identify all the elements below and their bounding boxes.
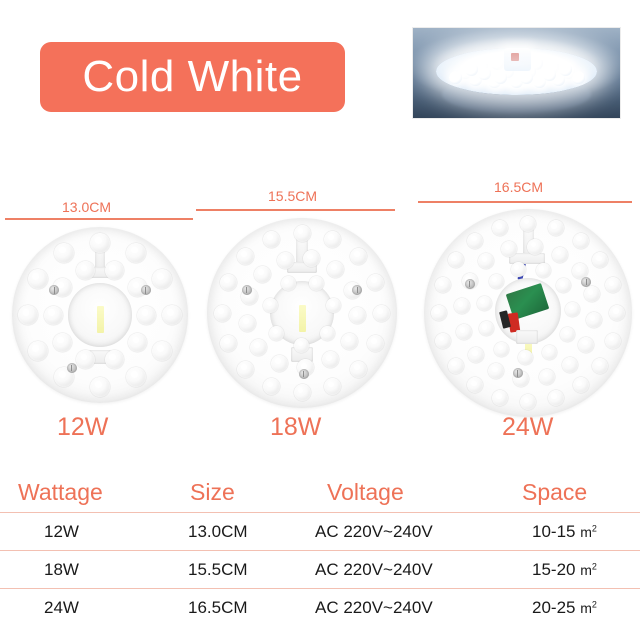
led-lens <box>53 333 72 352</box>
led-lens <box>128 333 147 352</box>
led-lens <box>250 339 267 356</box>
dimension-label-24w: 16.5CM <box>494 180 543 194</box>
led-lens <box>435 333 451 349</box>
led-lens <box>592 252 608 268</box>
led-lens <box>18 305 38 325</box>
led-lens <box>431 305 447 321</box>
led-lens <box>281 276 296 291</box>
header-wattage: Wattage <box>0 481 180 504</box>
led-lens <box>254 266 271 283</box>
led-lens <box>479 321 494 336</box>
led-lens <box>269 326 284 341</box>
table-header-row: Wattage Size Voltage Space <box>0 472 640 512</box>
cell-space-unit: m2 <box>580 524 597 540</box>
mounting-screw <box>465 279 475 289</box>
led-lens <box>584 286 600 302</box>
table-body: 12W 13.0CM AC 220V~240V 10-15 m2 18W 15.… <box>0 512 640 626</box>
led-lens <box>573 233 589 249</box>
led-lens <box>539 369 555 385</box>
panel-lower-tab-24w <box>516 330 539 345</box>
led-lens <box>373 305 390 322</box>
specification-table: Wattage Size Voltage Space 12W 13.0CM AC… <box>0 472 640 626</box>
led-panel-18w <box>207 218 397 408</box>
phosphor-strip-12w <box>97 306 103 332</box>
cell-space-value: 10-15 <box>532 522 575 541</box>
led-lens <box>367 335 384 352</box>
led-lens <box>263 231 280 248</box>
header-size: Size <box>180 481 315 504</box>
cell-space-unit: m2 <box>580 562 597 578</box>
led-lens <box>214 305 231 322</box>
led-lens <box>492 390 508 406</box>
led-lens <box>520 216 536 232</box>
led-lens <box>54 243 74 263</box>
cell-space: 20-25 m2 <box>500 598 640 618</box>
led-lens <box>239 315 256 332</box>
led-lens <box>320 326 335 341</box>
led-lens <box>536 263 551 278</box>
led-lens <box>324 231 341 248</box>
led-lens <box>126 367 146 387</box>
header-voltage: Voltage <box>315 481 500 504</box>
led-lens <box>467 233 483 249</box>
led-lens <box>578 337 594 353</box>
cell-wattage: 24W <box>0 598 180 618</box>
dimension-label-12w: 13.0CM <box>62 200 111 214</box>
led-lens <box>548 220 564 236</box>
color-temperature-badge: Cold White <box>40 42 345 112</box>
mounting-screw <box>299 369 309 379</box>
led-lens <box>28 269 48 289</box>
led-lens <box>477 296 492 311</box>
cell-voltage: AC 220V~240V <box>315 522 500 542</box>
led-lens <box>573 377 589 393</box>
led-lens <box>492 220 508 236</box>
cell-wattage: 12W <box>0 522 180 542</box>
dimension-line-24w <box>418 201 632 203</box>
led-lens <box>560 327 575 342</box>
cell-size: 15.5CM <box>180 560 315 580</box>
led-lens <box>488 363 504 379</box>
color-temperature-label: Cold White <box>82 55 302 99</box>
led-lens <box>478 253 494 269</box>
mounting-screw <box>513 368 523 378</box>
led-lens <box>520 394 536 410</box>
led-panel-12w <box>12 227 188 403</box>
led-lens <box>327 261 344 278</box>
photo-led-dot <box>572 71 585 84</box>
led-lens <box>324 378 341 395</box>
led-lens <box>322 351 339 368</box>
cell-space-value: 20-25 <box>532 598 575 617</box>
led-lens <box>511 262 526 277</box>
led-lens <box>152 341 172 361</box>
led-lens <box>468 347 484 363</box>
led-lens <box>237 248 254 265</box>
mounting-screw <box>67 363 77 373</box>
led-lens <box>137 306 156 325</box>
led-lens <box>350 361 367 378</box>
cell-voltage: AC 220V~240V <box>315 598 500 618</box>
led-lens <box>28 341 48 361</box>
dimension-line-12w <box>5 218 193 220</box>
led-lens <box>367 274 384 291</box>
led-lens <box>562 357 578 373</box>
unit-base: m <box>580 562 592 578</box>
photo-hub-chip <box>511 53 518 61</box>
dimension-label-18w: 15.5CM <box>268 189 317 203</box>
cell-space: 15-20 m2 <box>500 560 640 580</box>
table-row: 18W 15.5CM AC 220V~240V 15-20 m2 <box>0 550 640 588</box>
led-lens <box>605 333 621 349</box>
led-lens <box>263 378 280 395</box>
header-space: Space <box>500 481 640 504</box>
photo-led-dot <box>449 71 462 84</box>
led-lens <box>605 277 621 293</box>
photo-led-dot <box>520 71 533 84</box>
led-lens <box>220 335 237 352</box>
led-panel-24w <box>424 209 632 417</box>
led-lens <box>105 261 124 280</box>
unit-base: m <box>580 524 592 540</box>
led-lens <box>126 243 146 263</box>
led-lens <box>435 277 451 293</box>
led-lens <box>152 269 172 289</box>
led-lens <box>350 248 367 265</box>
led-lens <box>548 390 564 406</box>
led-lens <box>90 233 110 253</box>
unit-exponent: 2 <box>592 561 597 571</box>
led-lens <box>489 274 504 289</box>
led-lens <box>162 305 182 325</box>
led-lens <box>527 239 543 255</box>
led-lens <box>220 274 237 291</box>
mounting-screw <box>141 285 151 295</box>
led-lens <box>349 307 366 324</box>
cell-size: 13.0CM <box>180 522 315 542</box>
photo-led-dot <box>543 68 556 81</box>
cell-voltage: AC 220V~240V <box>315 560 500 580</box>
led-lens <box>44 306 63 325</box>
led-lens <box>586 312 602 328</box>
led-lens <box>277 252 294 269</box>
led-lens <box>592 358 608 374</box>
table-row: 12W 13.0CM AC 220V~240V 10-15 m2 <box>0 512 640 550</box>
led-lens <box>454 298 470 314</box>
led-lens <box>105 350 124 369</box>
led-lens <box>542 345 557 360</box>
led-lens <box>294 384 311 401</box>
unit-base: m <box>580 600 592 616</box>
led-lens <box>456 324 472 340</box>
cell-space-unit: m2 <box>580 600 597 616</box>
led-lens <box>341 333 358 350</box>
mounting-screw <box>352 285 362 295</box>
dimension-line-18w <box>196 209 395 211</box>
led-lens <box>303 250 320 267</box>
led-lens <box>467 377 483 393</box>
product-infographic: Cold White 13.0CM 15.5CM 16.5CM <box>0 0 640 640</box>
unit-exponent: 2 <box>592 599 597 609</box>
led-lens <box>448 252 464 268</box>
wattage-caption-12w: 12W <box>57 415 108 440</box>
led-lens <box>609 305 625 321</box>
photo-led-dot <box>494 71 507 84</box>
led-lens <box>76 350 95 369</box>
led-lens <box>237 361 254 378</box>
mounting-screw <box>581 277 591 287</box>
table-row: 24W 16.5CM AC 220V~240V 20-25 m2 <box>0 588 640 626</box>
cell-space: 10-15 m2 <box>500 522 640 542</box>
led-module-photo <box>413 28 620 118</box>
cell-space-value: 15-20 <box>532 560 575 579</box>
phosphor-strip-18w <box>299 305 306 332</box>
led-lens <box>448 358 464 374</box>
led-lens <box>494 342 509 357</box>
wattage-caption-18w: 18W <box>270 415 321 440</box>
led-lens <box>90 377 110 397</box>
wattage-caption-24w: 24W <box>502 415 553 440</box>
led-lens <box>271 355 288 372</box>
led-lens <box>556 278 571 293</box>
led-lens <box>565 302 580 317</box>
cell-size: 16.5CM <box>180 598 315 618</box>
cell-wattage: 18W <box>0 560 180 580</box>
unit-exponent: 2 <box>592 523 597 533</box>
led-lens <box>294 225 311 242</box>
led-lens <box>552 247 568 263</box>
led-lens <box>518 350 533 365</box>
led-lens <box>326 298 341 313</box>
